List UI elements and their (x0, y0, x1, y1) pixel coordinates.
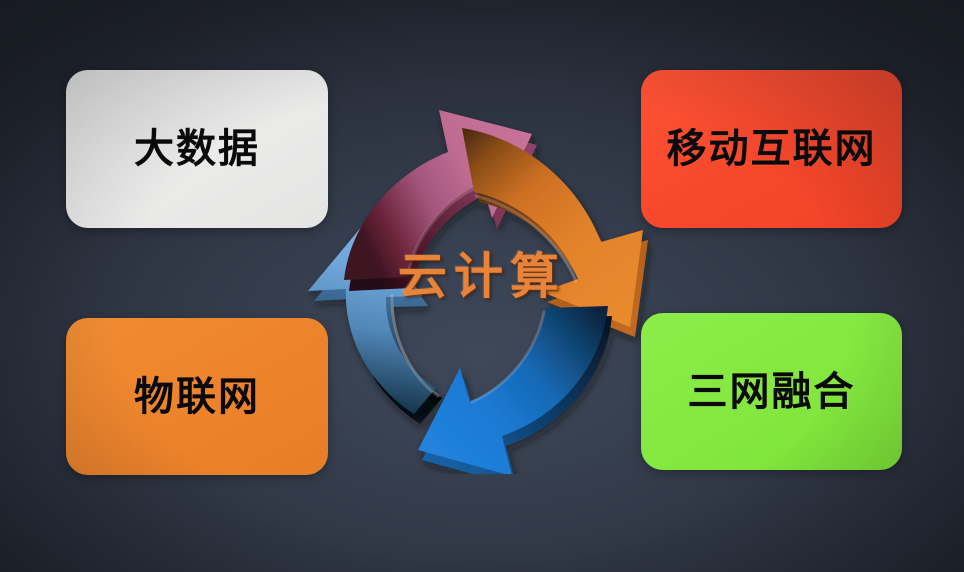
card-mobile-internet-label: 移动互联网 (667, 129, 877, 169)
card-bigdata-label: 大数据 (134, 129, 260, 169)
arrow-orange (462, 128, 648, 337)
card-internet-of-things[interactable]: 物联网 (66, 318, 328, 475)
card-triple-play-convergence[interactable]: 三网融合 (641, 313, 902, 470)
card-mobile-internet[interactable]: 移动互联网 (641, 70, 902, 228)
card-internet-of-things-label: 物联网 (134, 377, 260, 417)
card-bigdata[interactable]: 大数据 (66, 70, 328, 228)
cycle-arrow-diagram (296, 84, 668, 474)
card-triple-play-convergence-label: 三网融合 (688, 372, 856, 412)
arrow-blue (418, 306, 612, 474)
slide-canvas: 云计算 大数据 移动互联网 物联网 三网融合 (0, 0, 964, 572)
